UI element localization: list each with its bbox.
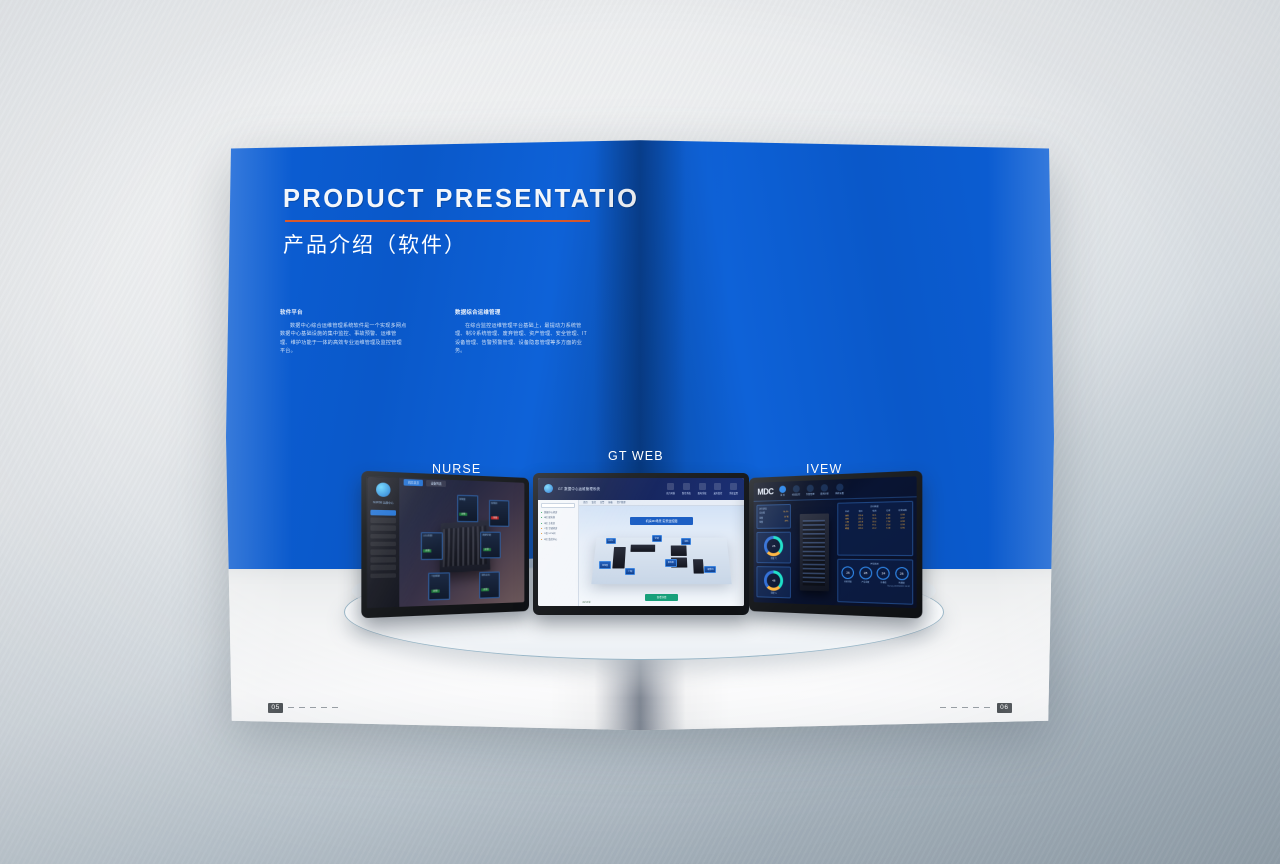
- callout-label: 温湿度: [602, 564, 608, 567]
- nav-item-security[interactable]: 安防监控: [714, 483, 723, 495]
- callout[interactable]: 空调: [652, 535, 662, 542]
- tab-assets[interactable]: 资产管理: [617, 500, 626, 504]
- kpi-item[interactable]: 28 产品温度: [859, 567, 872, 584]
- cell: 41.2: [867, 528, 881, 531]
- status-tag-value: 正常: [481, 589, 489, 592]
- kpi-value: 26: [895, 567, 908, 580]
- cell: 峰值: [840, 528, 853, 531]
- rack[interactable]: [612, 547, 626, 568]
- nurse-brand: NURSE 运维中心: [370, 500, 396, 505]
- kpi-item[interactable]: 26 机房温度: [842, 566, 855, 583]
- rack[interactable]: [671, 545, 687, 555]
- status-tag[interactable]: 消防主机 正常: [479, 572, 499, 599]
- iview-right-column: 实时数据 名称 电压 电流 功率 功率因数 A相 220.4 32.1: [837, 501, 913, 605]
- column-header: 名称: [840, 510, 853, 513]
- column-header: 电流: [867, 510, 881, 514]
- realtime-data-table[interactable]: 实时数据 名称 电压 电流 功率 功率因数 A相 220.4 32.1: [837, 501, 913, 556]
- gauge-label: 温度 ℃: [759, 557, 788, 560]
- page-number-value: 06: [997, 703, 1012, 713]
- status-tag[interactable]: 温湿度 正常: [457, 495, 478, 522]
- tab-overview[interactable]: 机房总览: [404, 479, 424, 486]
- page-title-cn: 产品介绍（软件）: [283, 229, 640, 259]
- cell: 9.18: [881, 528, 895, 532]
- table-header-row: 名称 电压 电流 功率 功率因数: [840, 509, 909, 514]
- search-input[interactable]: [541, 503, 575, 508]
- monitor-nurse[interactable]: NURSE 运维中心 机房总览 设备列表 温湿度 正常: [361, 471, 529, 619]
- kpi-value: 28: [859, 567, 872, 580]
- status-tag-title: 门禁系统: [431, 575, 448, 579]
- nurse-sidebar[interactable]: NURSE 运维中心: [367, 477, 399, 609]
- server-rack-3d[interactable]: [799, 514, 828, 591]
- gtweb-screen[interactable]: GT 数据中心运维管理系统 动力环境 制冷系统 配电系统 安防监控 系统设置 数…: [538, 478, 744, 606]
- shield-icon: [714, 483, 721, 490]
- panel-title-row: 环境监测: [840, 562, 909, 566]
- callout[interactable]: 门禁: [625, 568, 635, 575]
- gauge-label: 湿度 %: [759, 591, 788, 595]
- kpi-label: 冷通道: [877, 581, 890, 585]
- sidebar-item-reports[interactable]: [370, 565, 396, 570]
- kpi-item[interactable]: 26 热通道: [895, 567, 908, 585]
- monitor-iview[interactable]: MDC 首 页 机房监控 告警管理 能耗分析 系统设置 运行状态: [749, 470, 922, 618]
- kpi-label: 机房温度: [842, 580, 855, 583]
- power-icon: [667, 483, 674, 490]
- panel-title: 环境监测: [840, 562, 909, 566]
- nav-label: 安防监控: [714, 491, 723, 495]
- column-data-ops: 数据综合运维管理 在综合监控运维管理平台基础上，最提动力系统管理、制冷系统管理、…: [455, 308, 590, 356]
- sidebar-item-home[interactable]: [370, 510, 396, 516]
- column-body: 在综合监控运维管理平台基础上，最提动力系统管理、制冷系统管理、废弃管理、资产管理…: [455, 322, 590, 356]
- cell: 0.96: [895, 528, 909, 532]
- monitor-label-gtweb: GT WEB: [608, 449, 664, 463]
- sidebar-item-assets[interactable]: [370, 549, 396, 554]
- column-header: 功率: [881, 509, 895, 513]
- table-row[interactable]: 峰值 223.1 41.2 9.18 0.96: [840, 528, 909, 532]
- tab-monitor[interactable]: 监控: [592, 500, 596, 504]
- callout-label: 消防: [684, 540, 688, 543]
- status-tag-title: 配电柜: [491, 502, 507, 505]
- title-block: PRODUCT PRESENTATION 产品介绍（软件）: [283, 185, 640, 259]
- nurse-logo-icon: [376, 482, 390, 497]
- sidebar-item-energy[interactable]: [370, 541, 396, 546]
- nav-item-alarm[interactable]: 告警管理: [806, 484, 814, 496]
- nav-item-cooling[interactable]: 制冷系统: [682, 483, 691, 495]
- nav-label: 首 页: [779, 493, 786, 496]
- status-tag[interactable]: 门禁系统 正常: [429, 572, 451, 600]
- iview-rack-visual: [794, 503, 834, 602]
- kpi-row: 26 机房温度 28 产品温度 24 冷通道: [840, 566, 909, 584]
- metric-key: 温度: [759, 517, 763, 520]
- callout[interactable]: 温湿度: [599, 561, 611, 568]
- nav-label: 配电系统: [698, 491, 707, 495]
- page-number-right: 06: [940, 703, 1012, 713]
- status-tag-value: 正常: [483, 548, 491, 551]
- title-rule: [285, 220, 590, 222]
- rack[interactable]: [693, 559, 705, 573]
- gear-icon: [836, 483, 843, 491]
- gtweb-body: 数据中心机房 A区 配电室 B区 主机房 C区 空调机房 D区 UPS间 E区 …: [538, 500, 744, 606]
- nav-item-settings[interactable]: 系统设置: [835, 483, 844, 495]
- gauge-value: 26: [767, 538, 780, 552]
- kpi-label: 热通道: [895, 581, 908, 585]
- room-3d-floorplan[interactable]: [591, 537, 732, 584]
- gauge-temperature: 26: [764, 535, 783, 555]
- status-tag-title: UPS电源: [423, 535, 440, 538]
- environment-kpi-panel[interactable]: 环境监测 26 机房温度 28 产品温度: [837, 558, 913, 604]
- status-tag[interactable]: UPS电源 正常: [421, 532, 443, 560]
- callout-label: 门禁: [628, 570, 632, 573]
- status-tag-title: 消防主机: [481, 574, 497, 577]
- monitor-bezel: NURSE 运维中心 机房总览 设备列表 温湿度 正常: [361, 471, 529, 619]
- device-tree[interactable]: 数据中心机房 A区 配电室 B区 主机房 C区 空调机房 D区 UPS间 E区 …: [541, 511, 575, 543]
- status-tag-title: 精密空调: [483, 534, 499, 537]
- tab-devicelist[interactable]: 设备列表: [427, 480, 446, 487]
- nav-item-settings[interactable]: 系统设置: [729, 483, 738, 495]
- column-software-platform: 软件平台 数据中心综合运维管理系统软件是一个实现多网点数据中心基础设施的集中监控…: [280, 308, 407, 356]
- nav-label: 机房监控: [792, 493, 800, 496]
- gauge-value: 48: [767, 573, 780, 588]
- chart-icon: [821, 484, 828, 492]
- page-number-dashes: [288, 707, 340, 708]
- callout-label: 配电柜: [668, 561, 674, 564]
- iview-left-column: 运行状态 总负载 76.4% 温度 24℃ 湿度 48%: [756, 504, 791, 601]
- kpi-value: 24: [877, 567, 890, 580]
- gauge-humidity: 48: [764, 570, 783, 591]
- metric-row: 湿度 48%: [759, 521, 788, 524]
- nav-item-monitor[interactable]: 机房监控: [792, 485, 800, 497]
- bell-icon: [807, 484, 814, 492]
- rack[interactable]: [631, 544, 655, 551]
- monitor-bezel: GT 数据中心运维管理系统 动力环境 制冷系统 配电系统 安防监控 系统设置 数…: [533, 473, 749, 615]
- iview-body: 运行状态 总负载 76.4% 温度 24℃ 湿度 48%: [754, 497, 917, 608]
- metric-key: 湿度: [759, 521, 763, 524]
- sidebar-item-room[interactable]: [370, 518, 396, 523]
- metric-row: 温度 24℃: [759, 516, 788, 520]
- callout[interactable]: 摄像机: [704, 566, 716, 573]
- sidebar-item-alarms[interactable]: [370, 534, 396, 539]
- page-number-dashes: [940, 707, 992, 708]
- cell: 223.1: [854, 528, 868, 531]
- kpi-item[interactable]: 24 冷通道: [877, 567, 890, 584]
- status-badge: 运行正常: [582, 601, 590, 604]
- gear-icon: [730, 483, 737, 490]
- monitor-icon: [793, 485, 800, 492]
- nav-label: 告警管理: [806, 492, 814, 495]
- page-title-en: PRODUCT PRESENTATION: [283, 185, 640, 214]
- sidebar-item-devices[interactable]: [370, 526, 396, 531]
- gtweb-brand: GT 数据中心运维管理系统: [558, 486, 600, 491]
- kpi-value: 26: [842, 566, 855, 579]
- timestamp: Survey 2019/03/21 10:32: [840, 584, 909, 588]
- iview-nav[interactable]: 首 页 机房监控 告警管理 能耗分析 系统设置: [779, 483, 843, 497]
- gtweb-logo-icon: [544, 484, 553, 493]
- callout[interactable]: 消防: [681, 538, 691, 545]
- column-heading: 软件平台: [280, 308, 407, 316]
- status-tag-value: 正常: [459, 512, 467, 515]
- callout[interactable]: 配电柜: [665, 559, 677, 566]
- iview-screen[interactable]: MDC 首 页 机房监控 告警管理 能耗分析 系统设置 运行状态: [754, 476, 917, 608]
- nav-label: 能耗分析: [820, 492, 828, 495]
- gauge-card[interactable]: 26 温度 ℃: [756, 531, 791, 563]
- distribution-icon: [699, 483, 706, 490]
- callout-label: 摄像机: [707, 568, 713, 571]
- gtweb-header: GT 数据中心运维管理系统 动力环境 制冷系统 配电系统 安防监控 系统设置: [538, 478, 744, 500]
- gtweb-nav[interactable]: 动力环境 制冷系统 配电系统 安防监控 系统设置: [666, 483, 738, 495]
- column-heading: 数据综合运维管理: [455, 308, 590, 316]
- monitor-gtweb[interactable]: GT 数据中心运维管理系统 动力环境 制冷系统 配电系统 安防监控 系统设置 数…: [533, 473, 749, 615]
- nav-label: 动力环境: [666, 491, 675, 495]
- column-header: 电压: [854, 510, 868, 513]
- callout-label: UPS: [609, 540, 613, 542]
- status-tag-title: 温湿度: [459, 498, 475, 502]
- card-title-row: 运行状态: [759, 507, 788, 511]
- sidebar-item-settings[interactable]: [370, 573, 396, 579]
- monitor-bezel: MDC 首 页 机房监控 告警管理 能耗分析 系统设置 运行状态: [749, 470, 922, 618]
- tab-report[interactable]: 报表: [608, 500, 612, 504]
- nurse-screen[interactable]: NURSE 运维中心 机房总览 设备列表 温湿度 正常: [367, 477, 524, 609]
- metric-value: 76.4%: [783, 512, 789, 515]
- tab-home[interactable]: 首页: [583, 500, 587, 504]
- scene-banner: 机房3D场景 实景监控图: [630, 517, 693, 525]
- nav-item-power[interactable]: 动力环境: [666, 483, 675, 495]
- page-number-left: 05: [268, 703, 340, 713]
- callout[interactable]: UPS: [606, 538, 616, 544]
- kpi-label: 产品温度: [859, 580, 872, 584]
- status-tag-value: 告警: [491, 517, 499, 520]
- nav-label: 制冷系统: [682, 491, 691, 495]
- status-tag-value: 正常: [423, 550, 432, 553]
- page-number-value: 05: [268, 703, 283, 713]
- nurse-main-area: 机房总览 设备列表 温湿度 正常 配电柜 告警 UPS电源 正常 精密空调: [399, 478, 524, 607]
- cooling-icon: [683, 483, 690, 490]
- status-tag-value: 正常: [431, 590, 440, 593]
- status-tag[interactable]: 配电柜 告警: [489, 500, 509, 527]
- card-title: 运行状态: [759, 508, 767, 511]
- metric-key: 总负载: [759, 512, 765, 515]
- details-button[interactable]: 查看详情: [645, 594, 678, 601]
- tab-alarm[interactable]: 告警: [600, 500, 604, 504]
- nav-label: 系统设置: [729, 491, 738, 495]
- metric-row: 总负载 76.4%: [759, 512, 788, 516]
- status-tag[interactable]: 精密空调 正常: [480, 531, 500, 558]
- metric-value: 24℃: [784, 516, 788, 519]
- nav-item-home[interactable]: 首 页: [779, 485, 786, 496]
- metric-value: 48%: [785, 521, 789, 524]
- column-header: 功率因数: [895, 509, 909, 513]
- tree-item[interactable]: E区 监控中心: [541, 538, 575, 543]
- home-icon: [779, 485, 786, 492]
- mdc-logo: MDC: [757, 487, 773, 497]
- gtweb-canvas[interactable]: 首页 监控 告警 报表 资产管理 机房3D场景 实景监控图 UPS: [579, 500, 744, 606]
- status-card[interactable]: 运行状态 总负载 76.4% 温度 24℃ 湿度 48%: [756, 504, 791, 529]
- gtweb-tabs[interactable]: 首页 监控 告警 报表 资产管理: [579, 500, 744, 506]
- nav-label: 系统设置: [835, 491, 844, 494]
- sidebar-item-video[interactable]: [370, 557, 396, 562]
- column-body: 数据中心综合运维管理系统软件是一个实现多网点数据中心基础设施的集中监控、事故预警…: [280, 322, 407, 356]
- gauge-card[interactable]: 48 湿度 %: [756, 566, 791, 598]
- callout-label: 空调: [655, 537, 659, 540]
- nav-item-energy[interactable]: 能耗分析: [820, 483, 828, 495]
- nav-item-distribution[interactable]: 配电系统: [698, 483, 707, 495]
- gtweb-sidebar[interactable]: 数据中心机房 A区 配电室 B区 主机房 C区 空调机房 D区 UPS间 E区 …: [538, 500, 579, 606]
- nurse-topbar: 机房总览 设备列表: [399, 478, 524, 491]
